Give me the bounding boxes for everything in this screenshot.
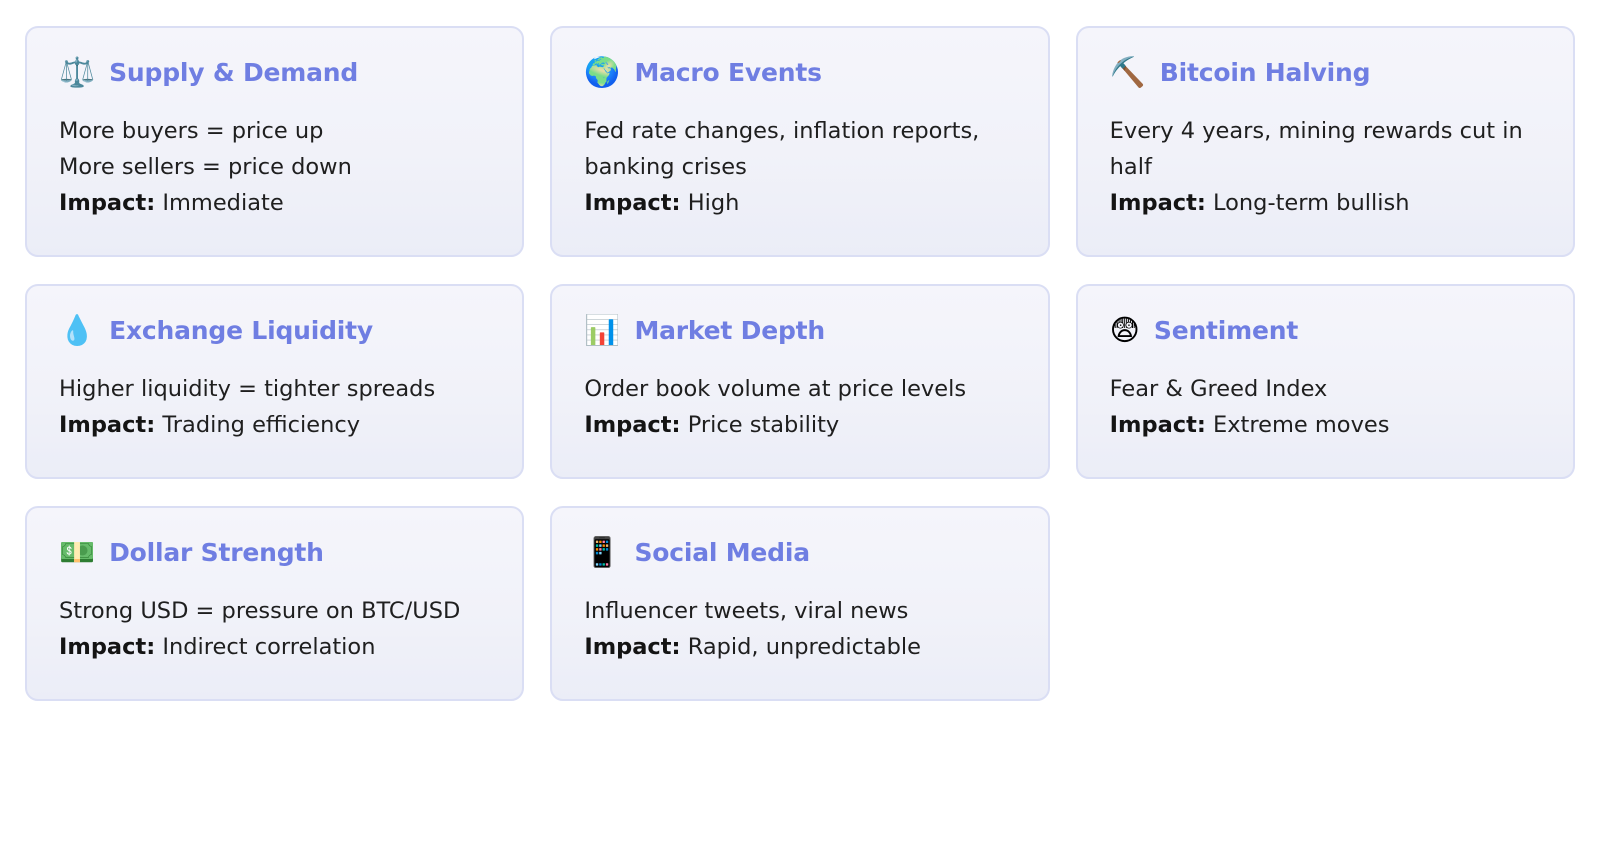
impact-label: Impact: — [1110, 190, 1206, 216]
fearful-face-icon: 😨 — [1110, 316, 1140, 345]
card-body: Fear & Greed Index Impact: Extreme moves — [1110, 371, 1541, 443]
card-impact: Impact: Long-term bullish — [1110, 185, 1541, 221]
impact-value: Rapid, unpredictable — [688, 634, 921, 660]
card-description: Fed rate changes, inflation reports, ban… — [584, 113, 1015, 185]
card-impact: Impact: Indirect correlation — [59, 629, 490, 665]
factor-card-6[interactable]: 😨 Sentiment Fear & Greed Index Impact: E… — [1076, 284, 1575, 479]
card-body: Order book volume at price levels Impact… — [584, 371, 1015, 443]
impact-label: Impact: — [59, 634, 155, 660]
card-body: Every 4 years, mining rewards cut in hal… — [1110, 113, 1541, 221]
water-drop-icon: 💧 — [59, 316, 95, 345]
impact-value: Price stability — [688, 412, 840, 438]
impact-value: Extreme moves — [1213, 412, 1389, 438]
card-description: Higher liquidity = tighter spreads — [59, 371, 490, 407]
card-header: 📊 Market Depth — [584, 316, 1015, 345]
card-description: More buyers = price upMore sellers = pri… — [59, 113, 490, 185]
impact-label: Impact: — [1110, 412, 1206, 438]
card-impact: Impact: Price stability — [584, 407, 1015, 443]
impact-value: Long-term bullish — [1213, 190, 1409, 216]
impact-value: Trading efficiency — [162, 412, 360, 438]
bar-chart-icon: 📊 — [584, 316, 620, 345]
card-body: Strong USD = pressure on BTC/USD Impact:… — [59, 593, 490, 665]
card-title: Sentiment — [1154, 317, 1298, 345]
card-header: 📱 Social Media — [584, 538, 1015, 567]
balance-scale-icon: ⚖️ — [59, 58, 95, 87]
factor-card-4[interactable]: 💧 Exchange Liquidity Higher liquidity = … — [25, 284, 524, 479]
card-body: Fed rate changes, inflation reports, ban… — [584, 113, 1015, 221]
impact-label: Impact: — [584, 634, 680, 660]
card-header: 😨 Sentiment — [1110, 316, 1541, 345]
card-header: ⚖️ Supply & Demand — [59, 58, 490, 87]
card-body: Influencer tweets, viral news Impact: Ra… — [584, 593, 1015, 665]
factor-card-1[interactable]: ⚖️ Supply & Demand More buyers = price u… — [25, 26, 524, 257]
card-impact: Impact: Rapid, unpredictable — [584, 629, 1015, 665]
factor-card-grid: ⚖️ Supply & Demand More buyers = price u… — [0, 0, 1600, 726]
globe-icon: 🌍 — [584, 58, 620, 87]
card-description: Fear & Greed Index — [1110, 371, 1541, 407]
card-impact: Impact: Trading efficiency — [59, 407, 490, 443]
impact-label: Impact: — [584, 190, 680, 216]
factor-card-3[interactable]: ⛏️ Bitcoin Halving Every 4 years, mining… — [1076, 26, 1575, 257]
factor-card-7[interactable]: 💵 Dollar Strength Strong USD = pressure … — [25, 506, 524, 701]
impact-label: Impact: — [59, 190, 155, 216]
card-title: Social Media — [634, 539, 809, 567]
pickaxe-icon: ⛏️ — [1110, 58, 1146, 87]
card-title: Bitcoin Halving — [1160, 59, 1371, 87]
card-impact: Impact: Immediate — [59, 185, 490, 221]
impact-value: Immediate — [162, 190, 283, 216]
card-description: Influencer tweets, viral news — [584, 593, 1015, 629]
card-header: 💵 Dollar Strength — [59, 538, 490, 567]
card-title: Macro Events — [634, 59, 821, 87]
card-title: Exchange Liquidity — [109, 317, 373, 345]
card-body: More buyers = price upMore sellers = pri… — [59, 113, 490, 221]
impact-value: Indirect correlation — [162, 634, 375, 660]
factor-card-2[interactable]: 🌍 Macro Events Fed rate changes, inflati… — [550, 26, 1049, 257]
card-header: 💧 Exchange Liquidity — [59, 316, 490, 345]
card-title: Supply & Demand — [109, 59, 358, 87]
impact-label: Impact: — [584, 412, 680, 438]
card-description: Order book volume at price levels — [584, 371, 1015, 407]
card-description: Strong USD = pressure on BTC/USD — [59, 593, 490, 629]
card-title: Market Depth — [634, 317, 825, 345]
impact-value: High — [688, 190, 740, 216]
impact-label: Impact: — [59, 412, 155, 438]
factor-card-5[interactable]: 📊 Market Depth Order book volume at pric… — [550, 284, 1049, 479]
mobile-phone-icon: 📱 — [584, 538, 620, 567]
card-impact: Impact: Extreme moves — [1110, 407, 1541, 443]
card-header: ⛏️ Bitcoin Halving — [1110, 58, 1541, 87]
card-body: Higher liquidity = tighter spreads Impac… — [59, 371, 490, 443]
factor-card-8[interactable]: 📱 Social Media Influencer tweets, viral … — [550, 506, 1049, 701]
card-impact: Impact: High — [584, 185, 1015, 221]
card-header: 🌍 Macro Events — [584, 58, 1015, 87]
card-description: Every 4 years, mining rewards cut in hal… — [1110, 113, 1541, 185]
dollar-banknote-icon: 💵 — [59, 538, 95, 567]
card-title: Dollar Strength — [109, 539, 324, 567]
